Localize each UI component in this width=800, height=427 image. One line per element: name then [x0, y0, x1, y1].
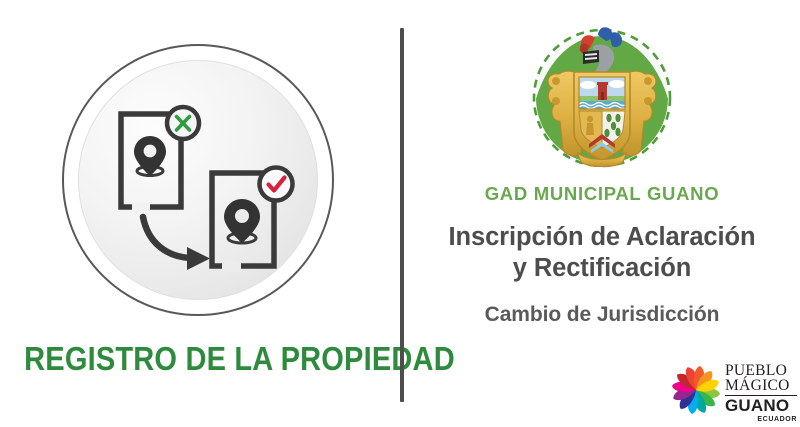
brand-line-magico: MÁGICO [725, 378, 797, 393]
brand-logo: PUEBLO MÁGICO GUANO ECUADOR [668, 360, 796, 422]
brand-line-ecuador: ECUADOR [725, 415, 797, 424]
service-heading-line-1: Inscripción de Aclaración [414, 222, 790, 253]
service-heading: Inscripción de Aclaración y Rectificació… [414, 222, 790, 284]
illustration-container [62, 44, 334, 316]
target-document-icon [212, 165, 293, 272]
left-panel: REGISTRO DE LA PROPIEDAD [0, 0, 402, 427]
poster-canvas: REGISTRO DE LA PROPIEDAD [0, 0, 800, 427]
brand-line-guano: GUANO [725, 395, 797, 415]
source-document-icon [121, 106, 199, 213]
brand-line-pueblo: PUEBLO [725, 360, 797, 378]
brand-logo-wordmark: PUEBLO MÁGICO GUANO ECUADOR [725, 360, 797, 420]
transfer-arrow-icon [143, 217, 210, 270]
documents-transfer-icon [62, 44, 334, 316]
pinwheel-flower-icon [668, 362, 724, 418]
page-title: REGISTRO DE LA PROPIEDAD [24, 340, 378, 378]
source-map-pin-icon [134, 136, 166, 176]
guano-crest-icon [519, 22, 685, 182]
organization-name: GAD MUNICIPAL GUANO [404, 183, 800, 205]
service-heading-line-2: y Rectificación [414, 253, 790, 284]
target-map-pin-icon [224, 199, 260, 243]
correct-badge-icon [260, 168, 293, 201]
coat-of-arms [519, 22, 685, 182]
crest-shield [574, 72, 630, 160]
incorrect-badge-icon [167, 107, 199, 139]
service-subheading: Cambio de Jurisdicción [414, 303, 790, 327]
